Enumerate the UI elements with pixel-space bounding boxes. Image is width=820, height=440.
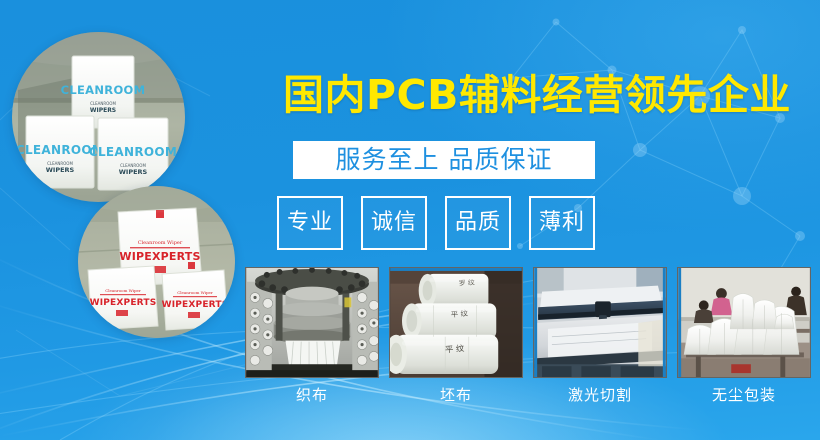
- feature-tag-label: 薄利: [539, 211, 585, 235]
- svg-text:WIPERS: WIPERS: [46, 166, 75, 174]
- feature-tag-quality[interactable]: 品质: [445, 196, 511, 250]
- svg-text:CLEANROOM: CLEANROOM: [89, 145, 177, 159]
- svg-text:WIPEXPERTS: WIPEXPERTS: [90, 298, 157, 308]
- process-photo-caption: 无尘包装: [677, 387, 811, 404]
- circle-photo-wipexperts-packages: Cleanroom Wiper WIPEXPERTS Cleanroom Wip…: [78, 186, 235, 338]
- feature-tag-list: 专业 诚信 品质 薄利: [277, 196, 595, 250]
- svg-text:CLEANROOM: CLEANROOM: [90, 101, 116, 106]
- process-photo-item-weaving[interactable]: 织布: [245, 267, 379, 404]
- feature-tag-label: 专业: [287, 211, 333, 235]
- svg-text:WIPERS: WIPERS: [119, 168, 148, 176]
- knitting-machine-photo: [245, 267, 379, 378]
- svg-text:Cleanroom Wiper: Cleanroom Wiper: [138, 240, 183, 246]
- process-photo-item-laser-cutting[interactable]: 激光切割: [533, 267, 667, 404]
- feature-tag-label: 诚信: [371, 211, 417, 235]
- process-photo-caption: 织布: [245, 387, 379, 404]
- fabric-rolls-photo: 罗 纹 平 纹 平 纹: [389, 267, 523, 378]
- process-photo-item-cleanroom-packing[interactable]: 无尘包装: [677, 267, 811, 404]
- svg-text:CLEANROOM: CLEANROOM: [61, 83, 146, 97]
- svg-text:Cleanroom Wiper: Cleanroom Wiper: [105, 288, 141, 293]
- promo-banner: CLEANROOM CLEANROOM WIPERS CLEANROOM CLE…: [0, 0, 820, 440]
- svg-text:WIPEXPERTS: WIPEXPERTS: [119, 250, 200, 263]
- process-photo-strip: 织布: [245, 267, 811, 404]
- process-photo-item-greige-fabric[interactable]: 罗 纹 平 纹 平 纹: [389, 267, 523, 404]
- feature-tag-integrity[interactable]: 诚信: [361, 196, 427, 250]
- feature-tag-low-margin[interactable]: 薄利: [529, 196, 595, 250]
- process-photo-caption: 坯布: [389, 387, 523, 404]
- svg-text:Cleanroom Wiper: Cleanroom Wiper: [177, 290, 213, 295]
- process-photo-caption: 激光切割: [533, 387, 667, 404]
- feature-tag-professional[interactable]: 专业: [277, 196, 343, 250]
- banner-headline: 国内PCB辅料经营领先企业: [283, 72, 783, 118]
- feature-tag-label: 品质: [455, 211, 501, 235]
- circle-photo-cleanroom-wipes: CLEANROOM CLEANROOM WIPERS CLEANROOM CLE…: [12, 32, 185, 202]
- svg-text:WIPERS: WIPERS: [90, 107, 116, 114]
- banner-subtitle-bar: 服务至上 品质保证: [293, 141, 595, 179]
- svg-text:WIPEXPERTS: WIPEXPERTS: [162, 300, 229, 310]
- laser-cutter-photo: [533, 267, 667, 378]
- cleanroom-packing-photo: [677, 267, 811, 378]
- banner-subtitle-text: 服务至上 品质保证: [336, 146, 553, 174]
